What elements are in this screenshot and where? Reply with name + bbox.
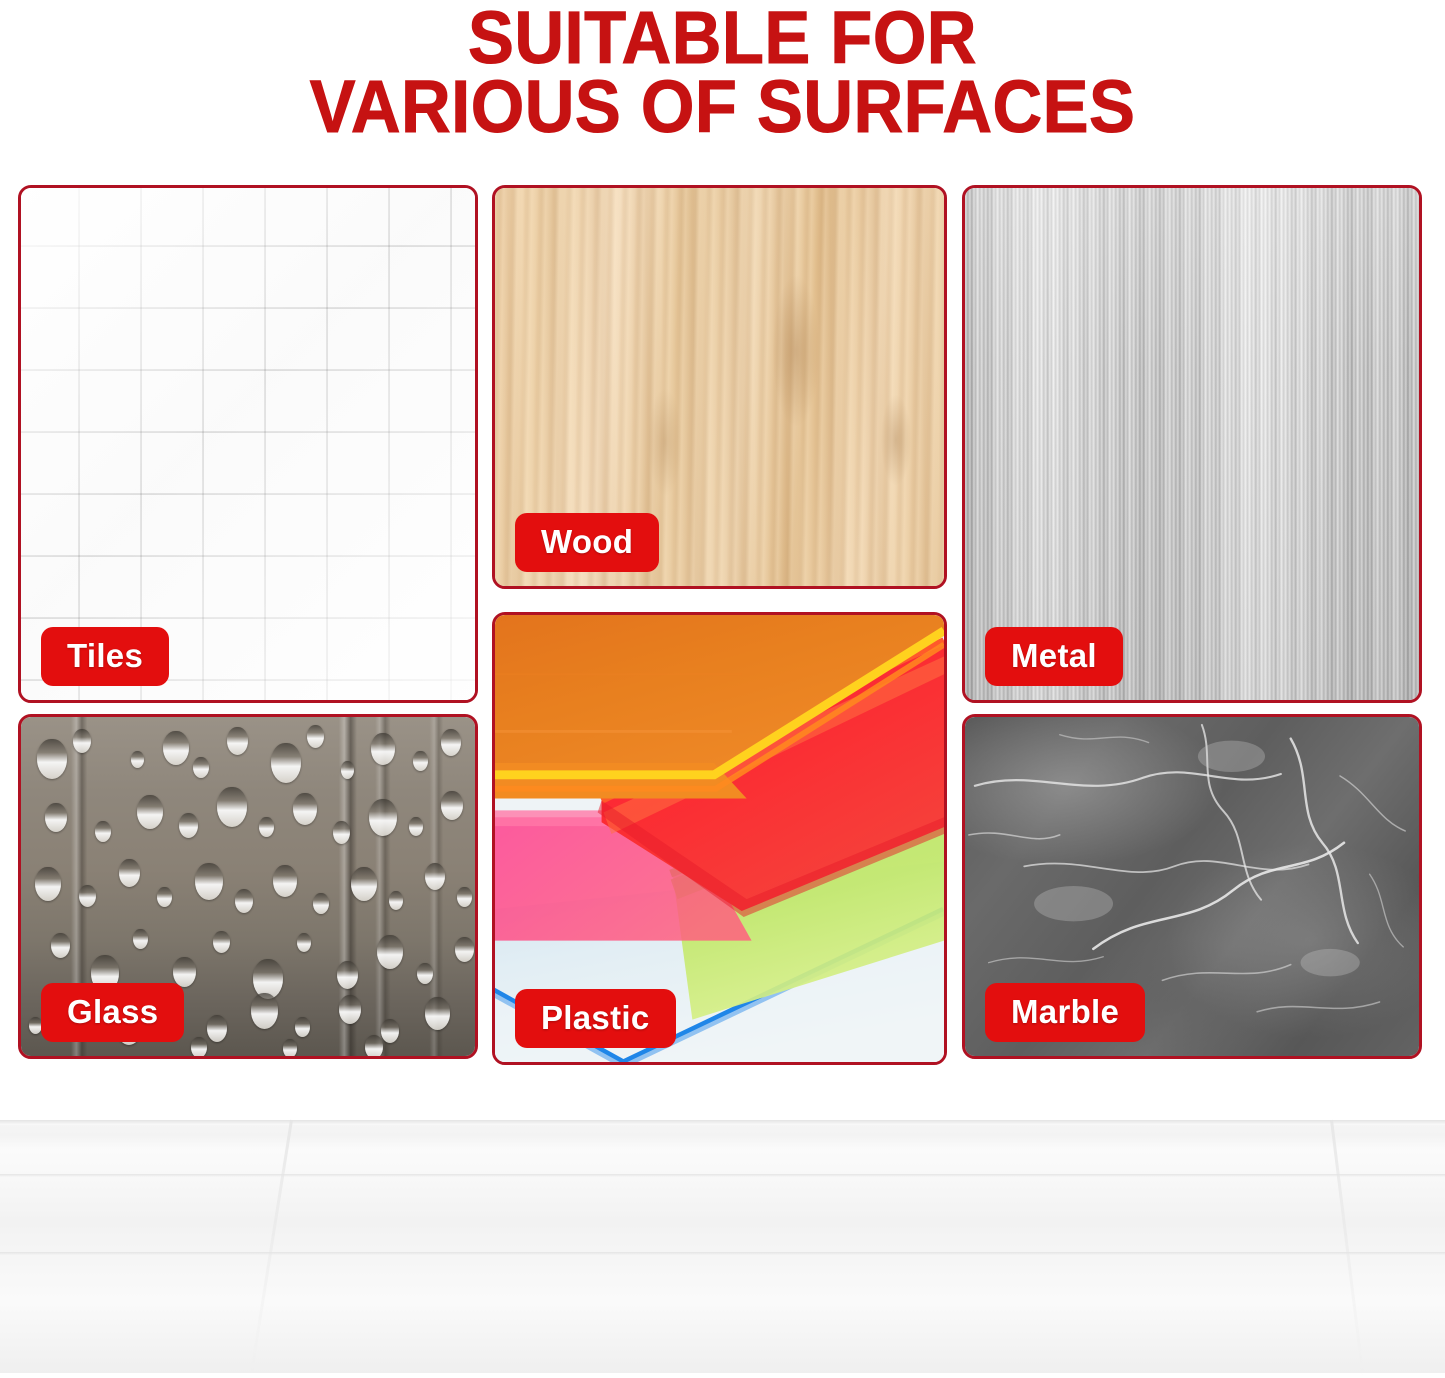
bottom-surface-crease-2 <box>1330 1120 1365 1378</box>
water-droplet <box>307 725 324 748</box>
water-droplet <box>371 733 395 765</box>
water-droplet <box>95 821 111 842</box>
water-droplet <box>163 731 189 765</box>
water-droplet <box>179 813 198 838</box>
water-droplet <box>389 891 403 910</box>
water-droplet <box>235 889 253 913</box>
surface-panel-plastic[interactable]: Plastic <box>492 612 947 1065</box>
water-droplet <box>297 933 311 952</box>
water-droplet <box>295 1017 310 1037</box>
water-droplet <box>193 757 209 778</box>
water-droplet <box>227 727 248 755</box>
water-droplet <box>333 821 350 844</box>
tiles-texture <box>21 188 475 700</box>
water-droplet <box>207 1015 227 1042</box>
water-droplet <box>259 817 274 837</box>
bottom-product-surface <box>0 1120 1445 1373</box>
water-droplet <box>337 961 358 989</box>
water-droplet <box>425 997 450 1030</box>
water-droplet <box>273 865 297 897</box>
surface-panel-tiles[interactable]: Tiles <box>18 185 478 703</box>
water-droplet <box>45 803 67 832</box>
water-droplet <box>173 957 196 987</box>
water-droplet <box>441 791 463 820</box>
bottom-surface-top-edge <box>0 1120 1445 1125</box>
water-droplet <box>351 867 377 901</box>
surface-label-marble: Marble <box>985 983 1145 1042</box>
surface-panel-metal[interactable]: Metal <box>962 185 1422 703</box>
water-droplet <box>217 787 247 827</box>
water-droplet <box>409 817 423 836</box>
metal-sheen-overlay <box>965 188 1419 700</box>
wood-grain-knot-1 <box>773 276 819 426</box>
bottom-surface-band-1 <box>0 1174 1445 1177</box>
wood-grain-knot-3 <box>881 395 911 485</box>
wood-grain-knot-2 <box>648 387 682 497</box>
water-droplet <box>37 739 67 779</box>
surface-label-wood: Wood <box>515 513 659 572</box>
water-droplet <box>133 929 148 949</box>
water-droplet <box>251 993 278 1029</box>
water-droplet <box>381 1019 399 1043</box>
surface-label-plastic: Plastic <box>515 989 676 1048</box>
water-droplet <box>73 729 91 753</box>
water-droplet <box>131 751 144 768</box>
surface-panel-glass[interactable]: Glass <box>18 714 478 1059</box>
water-droplet <box>377 935 403 969</box>
water-droplet <box>341 761 354 779</box>
water-droplet <box>339 995 361 1024</box>
water-droplet <box>137 795 163 829</box>
water-droplet <box>313 893 329 914</box>
water-droplet <box>365 1035 383 1059</box>
surface-panel-wood[interactable]: Wood <box>492 185 947 589</box>
water-droplet <box>213 931 230 953</box>
surface-label-glass: Glass <box>41 983 184 1042</box>
water-droplet <box>119 859 140 887</box>
water-droplet <box>191 1037 207 1058</box>
water-droplet <box>195 863 223 900</box>
water-droplet <box>413 751 428 771</box>
water-droplet <box>35 867 61 901</box>
water-droplet <box>441 729 461 756</box>
water-droplet <box>425 863 445 890</box>
surface-panel-grid: Tiles Wood Metal Glass <box>0 0 1445 1070</box>
water-droplet <box>457 887 472 907</box>
water-droplet <box>271 743 301 783</box>
water-droplet <box>79 885 96 907</box>
grid-bottom-spacer <box>0 1066 1445 1122</box>
water-droplet <box>293 793 317 825</box>
water-droplet <box>157 887 172 907</box>
water-droplet <box>417 963 433 984</box>
water-droplet <box>51 933 70 958</box>
bottom-surface-band-2 <box>0 1252 1445 1255</box>
water-droplet <box>455 937 474 962</box>
water-droplet <box>369 799 397 836</box>
water-droplet <box>283 1039 297 1058</box>
bottom-surface-crease-1 <box>249 1120 293 1377</box>
surface-label-metal: Metal <box>985 627 1123 686</box>
surface-panel-marble[interactable]: Marble <box>962 714 1422 1059</box>
surface-label-tiles: Tiles <box>41 627 169 686</box>
